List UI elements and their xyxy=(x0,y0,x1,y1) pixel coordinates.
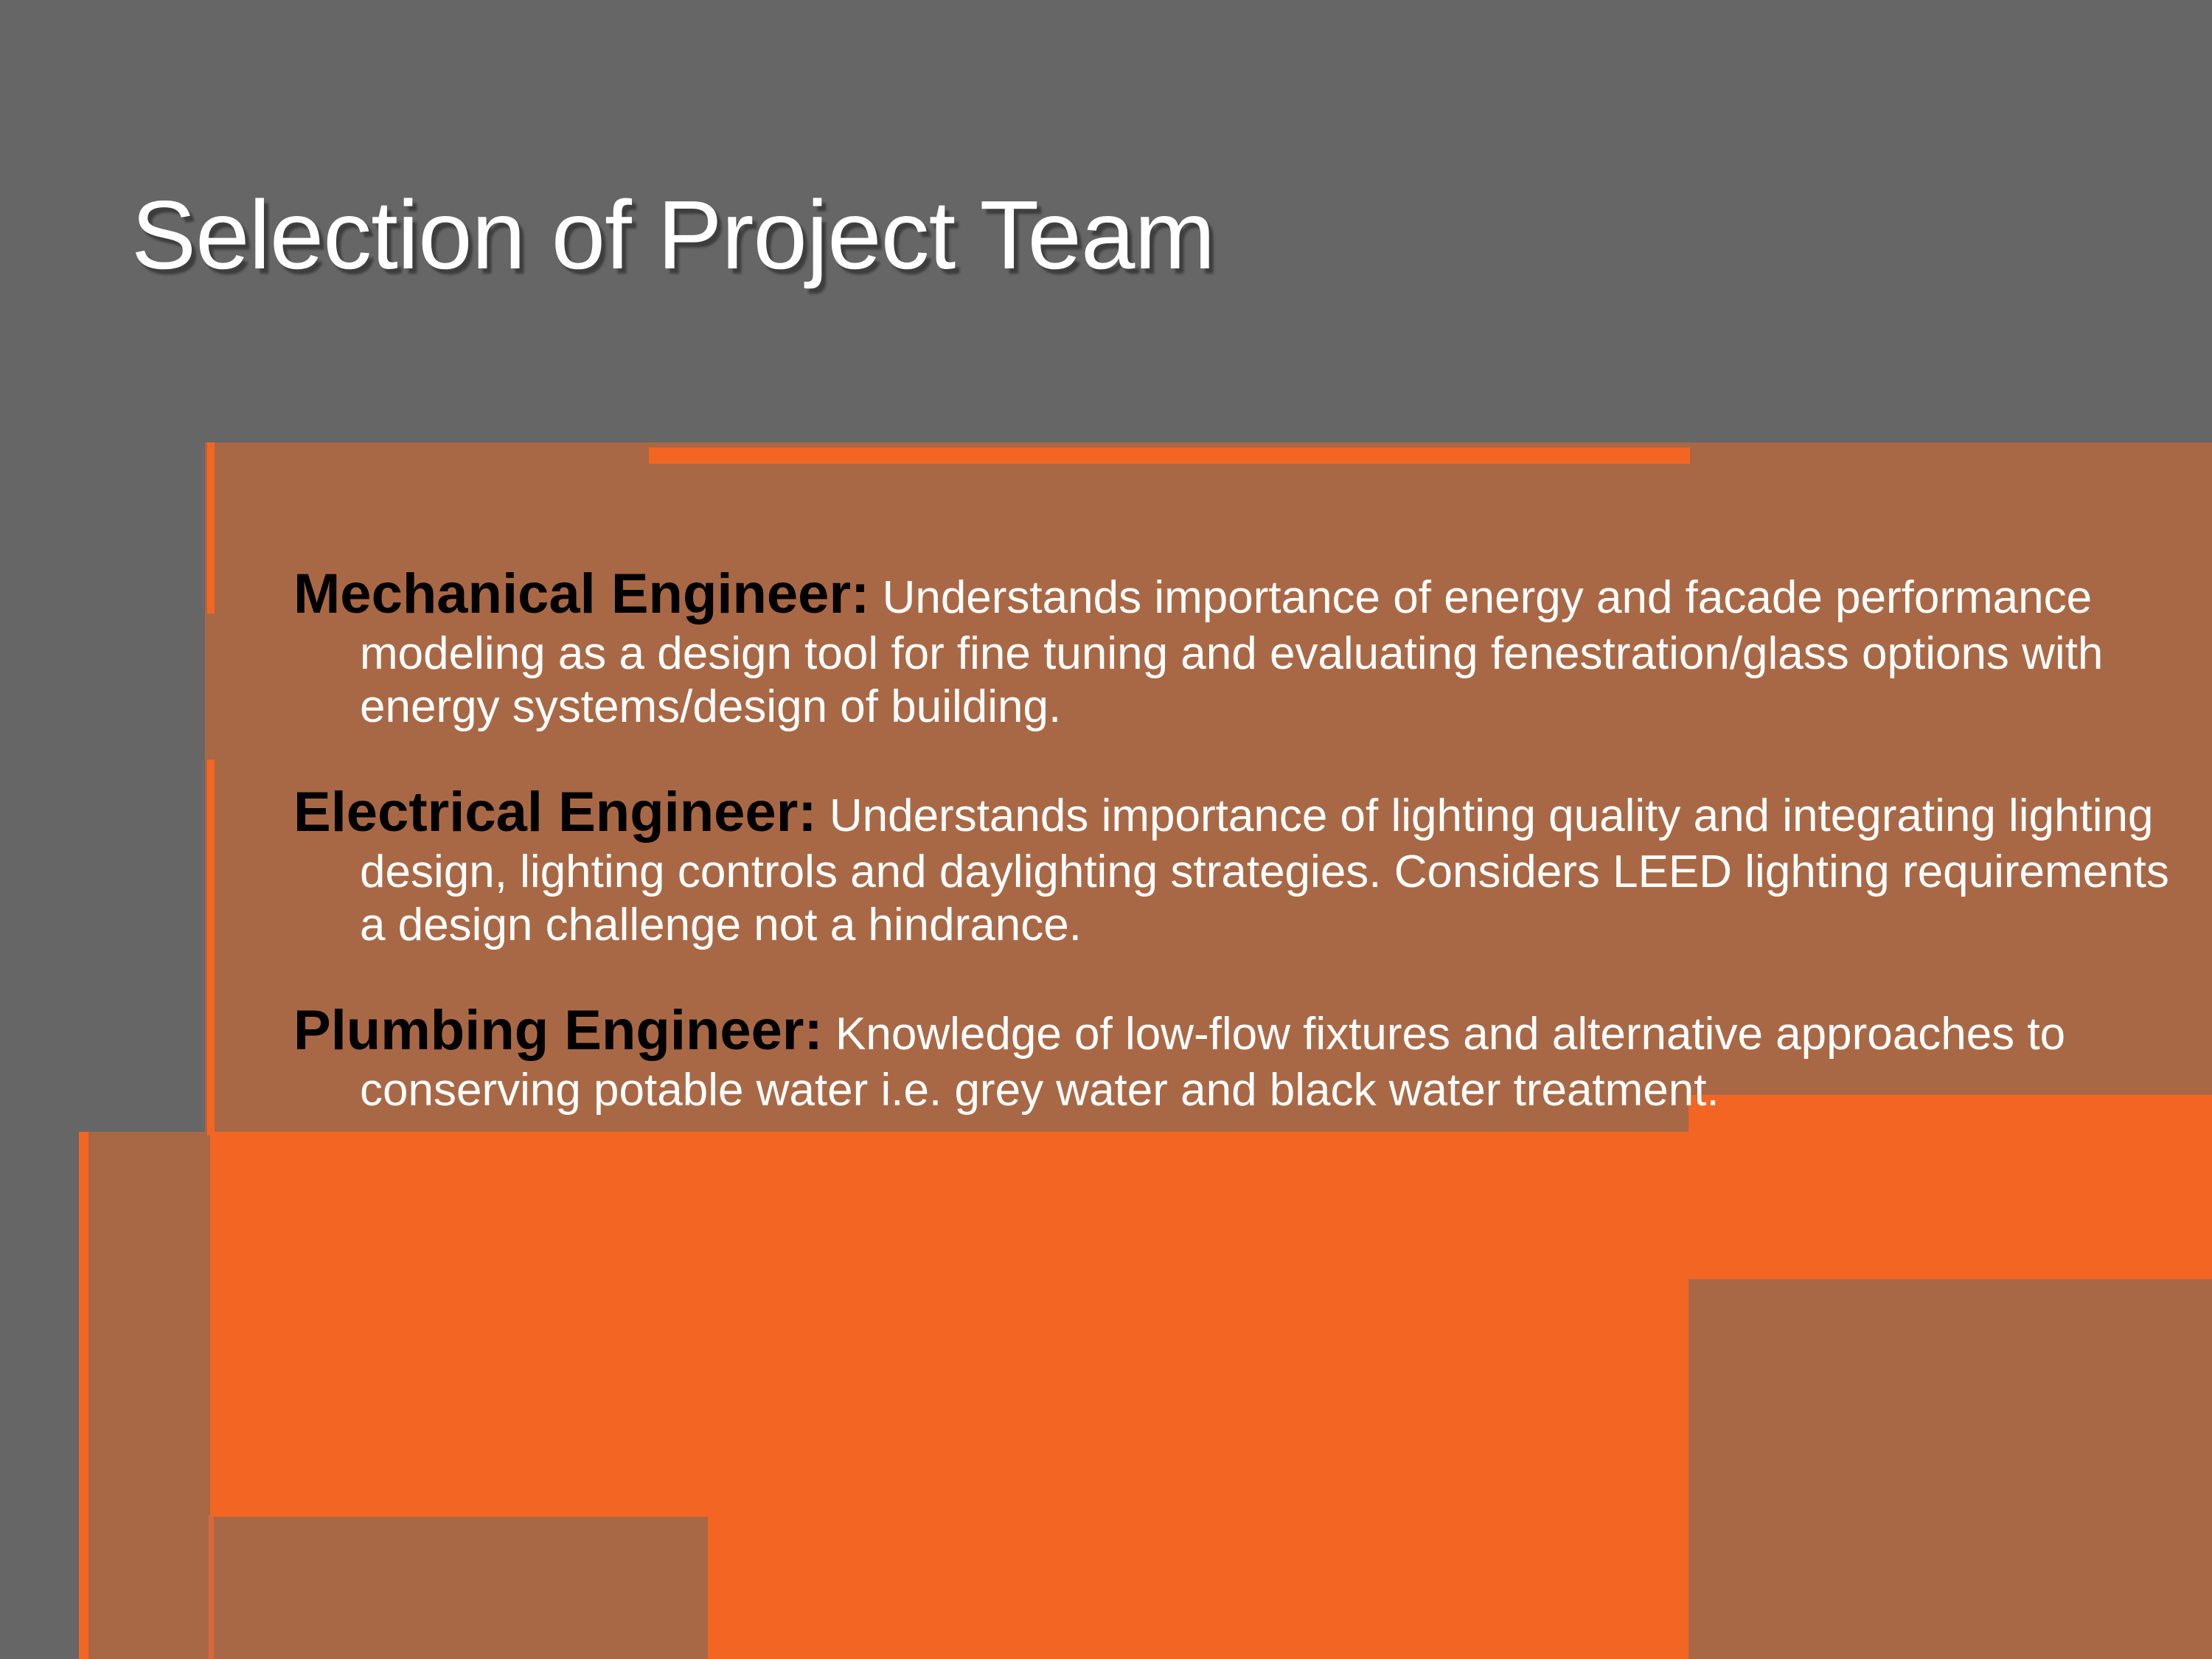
bullet-item: Mechanical Engineer: Understands importa… xyxy=(293,562,2181,734)
slide-title: Selection of Project Team xyxy=(131,184,2048,287)
slide-body: Mechanical Engineer: Understands importa… xyxy=(293,516,2181,1117)
bullet-role-label: Plumbing Engineer: xyxy=(293,999,823,1062)
mid-right-accent-block xyxy=(1688,1095,2212,1279)
bullet-item: Electrical Engineer: Understands importa… xyxy=(293,780,2181,953)
bottom-left-accent-line xyxy=(79,1132,88,1659)
mid-left-accent-block xyxy=(210,1132,708,1517)
left-accent-line-upper xyxy=(207,442,215,613)
bullet-role-label: Mechanical Engineer: xyxy=(293,563,869,625)
bottom-mid-accent-line xyxy=(209,1515,214,1659)
left-accent-line-lower xyxy=(207,759,215,1135)
top-accent-bar xyxy=(649,448,1690,464)
bullet-item: Plumbing Engineer: Knowledge of low-flow… xyxy=(293,998,2181,1117)
bottom-center-accent-block xyxy=(708,1132,1688,1659)
bottom-right-panel xyxy=(1688,1279,2212,1659)
presentation-slide: Selection of Project Team Mechanical Eng… xyxy=(0,0,2212,1659)
bullet-role-label: Electrical Engineer: xyxy=(293,781,817,844)
